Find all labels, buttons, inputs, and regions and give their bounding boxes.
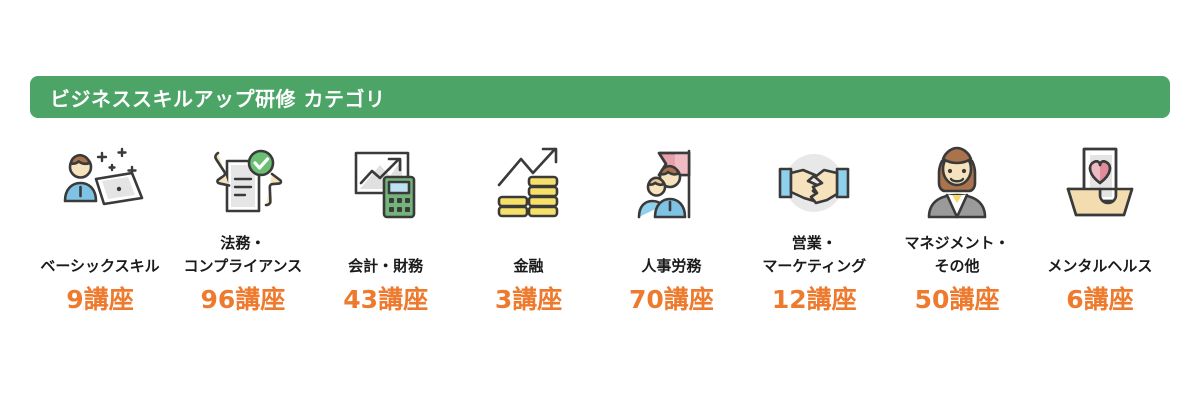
category-item-mental-health[interactable]: メンタルヘルス 6講座 xyxy=(1030,140,1170,325)
category-label-line1: メンタルヘルス xyxy=(1047,255,1152,278)
category-item-management-other[interactable]: マネジメント・ その他 50講座 xyxy=(887,140,1027,325)
category-label-line1: 人事労務 xyxy=(641,255,701,278)
document-check-hands-icon xyxy=(193,140,293,226)
category-label-line2: その他 xyxy=(935,255,980,278)
category-course-count: 70講座 xyxy=(629,285,714,315)
category-item-legal-compliance[interactable]: 法務・ コンプライアンス 96講座 xyxy=(173,140,313,325)
page-title: ビジネススキルアップ研修 カテゴリ xyxy=(50,83,385,112)
category-label-line1: 法務・ xyxy=(220,232,265,255)
category-overview-panel: ビジネススキルアップ研修 カテゴリ xyxy=(0,0,1200,400)
category-course-count: 3講座 xyxy=(495,285,562,315)
category-item-sales-marketing[interactable]: 営業・ マーケティング 12講座 xyxy=(744,140,884,325)
chart-calculator-icon xyxy=(336,140,436,226)
category-course-count: 96講座 xyxy=(200,285,285,315)
category-label-line1: 金融 xyxy=(514,255,544,278)
category-label-line1: マネジメント・ xyxy=(905,232,1010,255)
category-list: ベーシックスキル 9講座 xyxy=(30,140,1170,325)
category-label-line2: コンプライアンス xyxy=(184,255,303,278)
growth-coins-icon xyxy=(479,140,579,226)
category-label-line1: 会計・財務 xyxy=(348,255,423,278)
category-course-count: 6講座 xyxy=(1066,285,1133,315)
category-label: 営業・ マーケティング xyxy=(744,232,884,278)
category-label: 金融 xyxy=(459,232,599,278)
category-label-line1: 営業・ xyxy=(792,232,837,255)
category-label: マネジメント・ その他 xyxy=(887,232,1027,278)
category-course-count: 43講座 xyxy=(343,285,428,315)
category-item-basic-skill[interactable]: ベーシックスキル 9講座 xyxy=(30,140,170,325)
people-flag-icon xyxy=(621,140,721,226)
category-label: 法務・ コンプライアンス xyxy=(173,232,313,278)
businesswoman-icon xyxy=(907,140,1007,226)
section-header-bar: ビジネススキルアップ研修 カテゴリ xyxy=(30,76,1170,118)
heart-letter-box-icon xyxy=(1050,140,1150,226)
category-item-accounting-finance[interactable]: 会計・財務 43講座 xyxy=(316,140,456,325)
category-label: 会計・財務 xyxy=(316,232,456,278)
handshake-icon xyxy=(764,140,864,226)
category-label: ベーシックスキル xyxy=(30,232,170,278)
category-item-hr-labor[interactable]: 人事労務 70講座 xyxy=(601,140,741,325)
category-course-count: 12講座 xyxy=(772,285,857,315)
category-item-financial[interactable]: 金融 3講座 xyxy=(459,140,599,325)
category-label: 人事労務 xyxy=(601,232,741,278)
person-laptop-icon xyxy=(50,140,150,226)
category-label-line1: ベーシックスキル xyxy=(40,255,159,278)
category-label-line2: マーケティング xyxy=(762,255,866,278)
category-label: メンタルヘルス xyxy=(1030,232,1170,278)
category-course-count: 9講座 xyxy=(66,285,133,315)
category-course-count: 50講座 xyxy=(915,285,1000,315)
